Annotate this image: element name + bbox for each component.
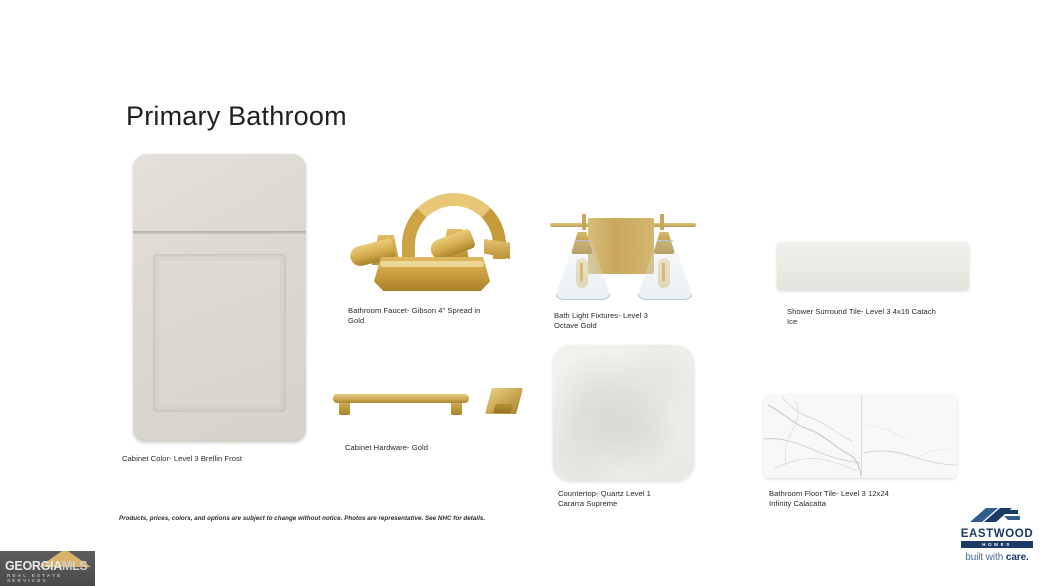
caption-cabinet-hardware: Cabinet Hardware- Gold [345, 443, 535, 453]
faucet-image [344, 183, 519, 298]
vanity-light-image [548, 196, 698, 302]
selection-sheet: Primary Bathroom Cabinet Color- Level 3 … [0, 0, 1042, 586]
caption-cabinet-color: Cabinet Color- Level 3 Brellin Frost [122, 454, 312, 464]
cabinet-door-sample [133, 154, 306, 442]
caption-countertop-line1: Countertop- Quartz Level 1 [558, 489, 738, 499]
caption-shower-tile-line2: Ice [787, 317, 987, 327]
caption-faucet-line2: Gold [348, 316, 523, 326]
light-stem-right [660, 214, 664, 230]
drawer-pull [333, 394, 469, 403]
door-seam [133, 231, 306, 234]
caption-light-line1: Bath Light Fixtures- Level 3 [554, 311, 734, 321]
cabinet-knob [485, 388, 523, 414]
caption-floor-tile-line1: Bathroom Floor Tile- Level 3 12x24 [769, 489, 964, 499]
pull-foot-left [339, 403, 350, 415]
watermark-secondary: MLS [62, 559, 88, 573]
tagline-accent: care. [1006, 552, 1029, 563]
georgia-mls-watermark: GEORGIAMLS REAL ESTATE SERVICES [0, 551, 95, 586]
light-stem-left [582, 214, 586, 230]
shower-tile-sample [777, 242, 969, 290]
tile-grout-line [861, 395, 862, 478]
faucet-highlight [380, 261, 484, 267]
eastwood-tagline: built with care. [957, 552, 1037, 563]
disclaimer-text: Products, prices, colors, and options ar… [119, 515, 485, 522]
door-panel [153, 254, 286, 412]
page-title: Primary Bathroom [126, 101, 347, 132]
caption-floor-tile-line2: Infinity Calacatta [769, 499, 964, 509]
watermark-sub: REAL ESTATE SERVICES [7, 573, 95, 583]
eastwood-sub: HOMES [961, 541, 1033, 548]
caption-shower-tile-line1: Shower Surround Tile- Level 3 4x16 Catac… [787, 307, 987, 317]
tagline-prefix: built with [965, 552, 1006, 563]
cabinet-hardware-image [333, 380, 523, 425]
caption-faucet-line1: Bathroom Faucet- Gibson 4" Spread in [348, 306, 523, 316]
pull-foot-right [451, 403, 462, 415]
watermark-primary: GEORGIA [5, 559, 62, 573]
eastwood-emblem-icon [968, 505, 1026, 527]
quartz-countertop-sample [553, 345, 694, 481]
caption-light-line2: Octave Gold [554, 321, 734, 331]
marble-floor-tile-sample [764, 395, 957, 478]
caption-countertop-line2: Cararra Supreme [558, 499, 738, 509]
eastwood-name: EASTWOOD [957, 528, 1037, 540]
georgia-mls-name: GEORGIAMLS [5, 559, 87, 573]
eastwood-homes-logo: EASTWOOD HOMES built with care. [957, 505, 1037, 565]
